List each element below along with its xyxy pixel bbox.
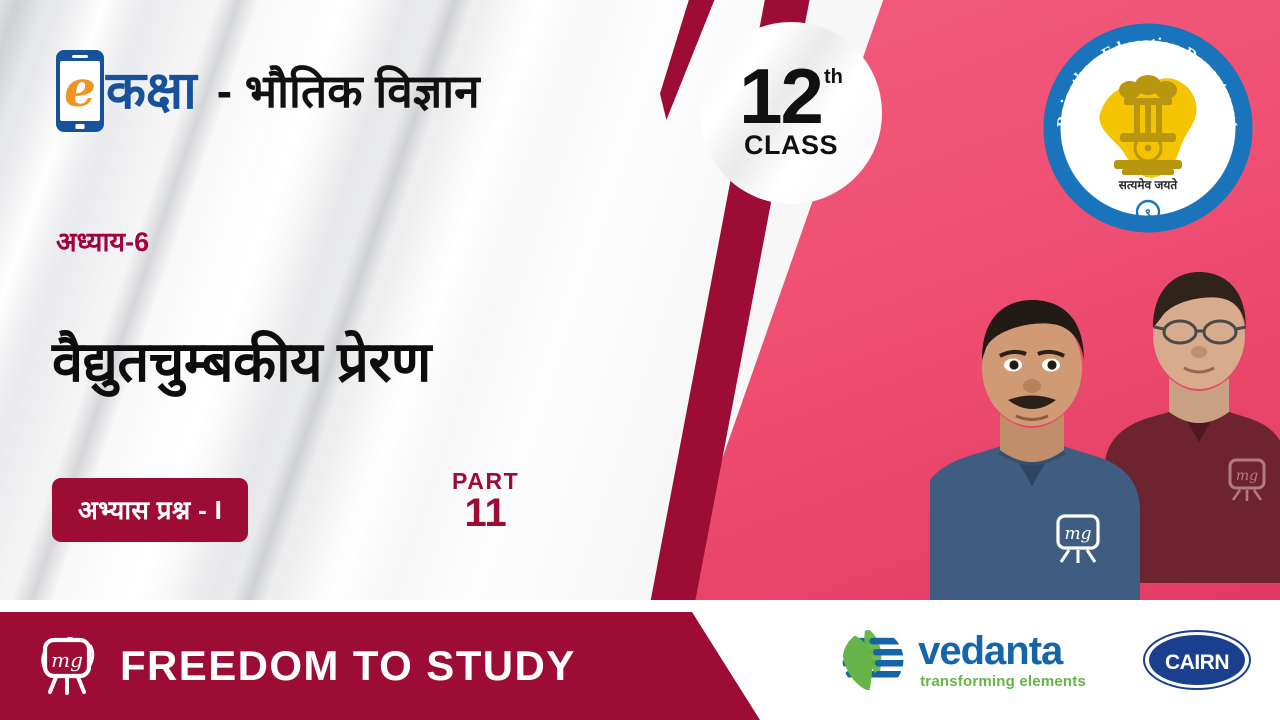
vedanta-wordmark: vedanta transforming elements xyxy=(918,631,1086,689)
vedanta-name: vedanta xyxy=(918,631,1086,671)
freedom-to-study-banner: mg FREEDOM TO STUDY xyxy=(0,612,768,720)
phone-speaker-icon xyxy=(72,55,88,58)
vedanta-tagline: transforming elements xyxy=(920,674,1086,689)
part-number: 11 xyxy=(452,493,519,534)
svg-text:mg: mg xyxy=(1236,468,1258,484)
part-label: PART xyxy=(452,470,519,493)
brand-subject: - भौतिक विज्ञान xyxy=(217,68,480,114)
rajasthan-education-department-logo: Rajasthan Education Department सत्यमेव ज… xyxy=(1042,22,1254,234)
class-number-row: 12 th xyxy=(739,65,843,129)
mg-logo-icon: mg xyxy=(40,637,98,695)
instructor-photos: mg xyxy=(930,228,1280,620)
mg-monogram: mg xyxy=(51,648,83,672)
exercise-badge: अभ्यास प्रश्न - I xyxy=(52,478,248,542)
vedanta-logo: vedanta transforming elements xyxy=(838,625,1086,695)
slide-canvas: 12 th CLASS e कक्षा - भौतिक विज्ञान अध्य… xyxy=(0,0,1280,720)
svg-text:mg: mg xyxy=(1064,524,1091,544)
cairn-wordmark: CAIRN xyxy=(1165,651,1229,674)
chapter-label: अध्याय-6 xyxy=(56,222,149,259)
page-title: वैद्युतचुम्बकीय प्रेरण xyxy=(52,322,431,398)
class-badge: 12 th CLASS xyxy=(700,22,882,204)
brand-e-letter: e xyxy=(64,64,96,114)
part-indicator: PART 11 xyxy=(452,470,519,534)
dept-motto: सत्यमेव जयते xyxy=(1118,178,1179,192)
phone-home-button-icon xyxy=(76,124,85,129)
class-ordinal: th xyxy=(824,69,843,85)
cairn-logo: CAIRN xyxy=(1142,629,1252,691)
sponsor-logos: vedanta transforming elements CAIRN xyxy=(838,618,1252,702)
class-word: CLASS xyxy=(744,130,838,161)
svg-text:९: ९ xyxy=(1145,206,1151,220)
class-number: 12 xyxy=(739,65,822,129)
brand-name: कक्षा xyxy=(106,65,197,117)
footer-tagline: FREEDOM TO STUDY xyxy=(120,642,576,690)
phone-icon: e xyxy=(56,50,104,132)
vedanta-globe-icon xyxy=(838,625,908,695)
phone-screen: e xyxy=(60,61,100,121)
brand-logo: e कक्षा - भौतिक विज्ञान xyxy=(56,50,480,132)
